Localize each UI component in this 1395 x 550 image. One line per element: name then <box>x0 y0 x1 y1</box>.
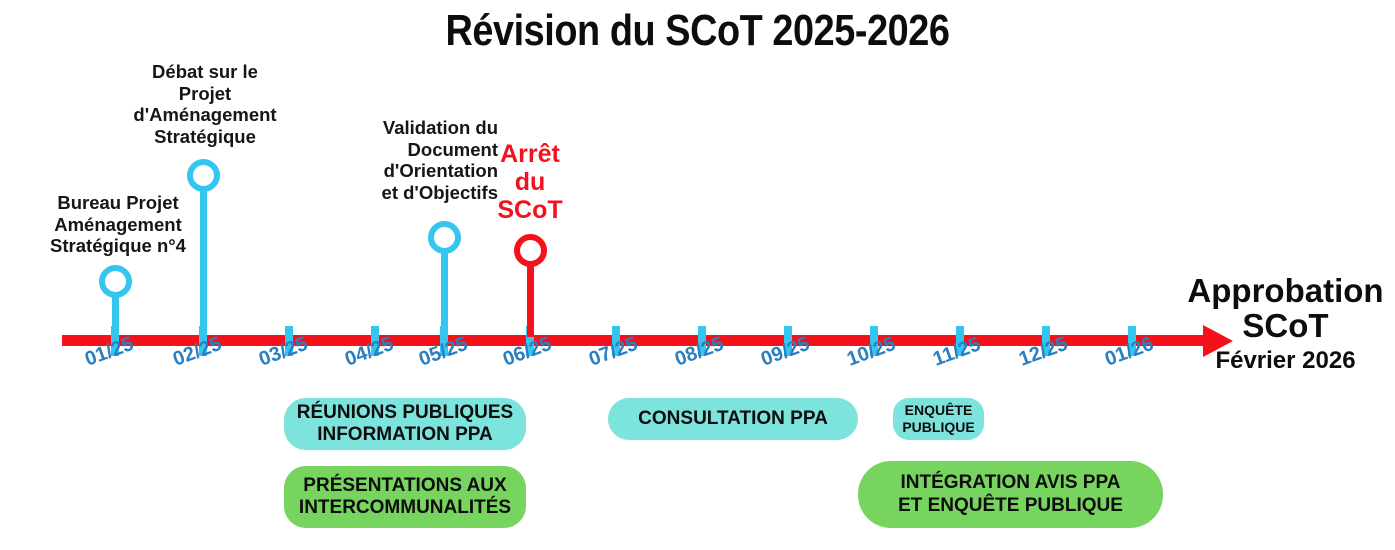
milestone-label-debat-pas: Débat sur le Projet d'Aménagement Straté… <box>125 61 285 148</box>
approval-title: Approbation SCoT <box>1176 274 1395 344</box>
milestone-label-validation-doo: Validation du Document d'Orientation et … <box>370 117 498 204</box>
approval-date: Février 2026 <box>1176 347 1395 375</box>
phase-pill-enquete-publique[interactable]: ENQUÊTE PUBLIQUE <box>893 398 984 440</box>
milestone-stem <box>200 181 207 337</box>
phase-pill-reunions-publiques[interactable]: RÉUNIONS PUBLIQUES INFORMATION PPA <box>284 398 526 450</box>
phase-pill-consultation-ppa[interactable]: CONSULTATION PPA <box>608 398 858 440</box>
milestone-ring-icon <box>428 221 461 254</box>
milestone-stem <box>441 243 448 337</box>
phase-pill-presentations-intercommunalites[interactable]: PRÉSENTATIONS AUX INTERCOMMUNALITÉS <box>284 466 526 528</box>
milestone-label-bureau-projet: Bureau Projet Aménagement Stratégique n°… <box>48 192 188 257</box>
milestone-ring-icon <box>187 159 220 192</box>
milestone-stem <box>527 256 534 337</box>
milestone-ring-icon <box>514 234 547 267</box>
approval-annotation: Approbation SCoT Février 2026 <box>1176 274 1395 375</box>
page-title: Révision du SCoT 2025-2026 <box>98 6 1298 56</box>
milestone-ring-icon <box>99 265 132 298</box>
milestone-label-arret-scot: Arrêt du SCoT <box>494 140 566 224</box>
phase-pill-integration-avis-ppa[interactable]: INTÉGRATION AVIS PPA ET ENQUÊTE PUBLIQUE <box>858 461 1163 528</box>
